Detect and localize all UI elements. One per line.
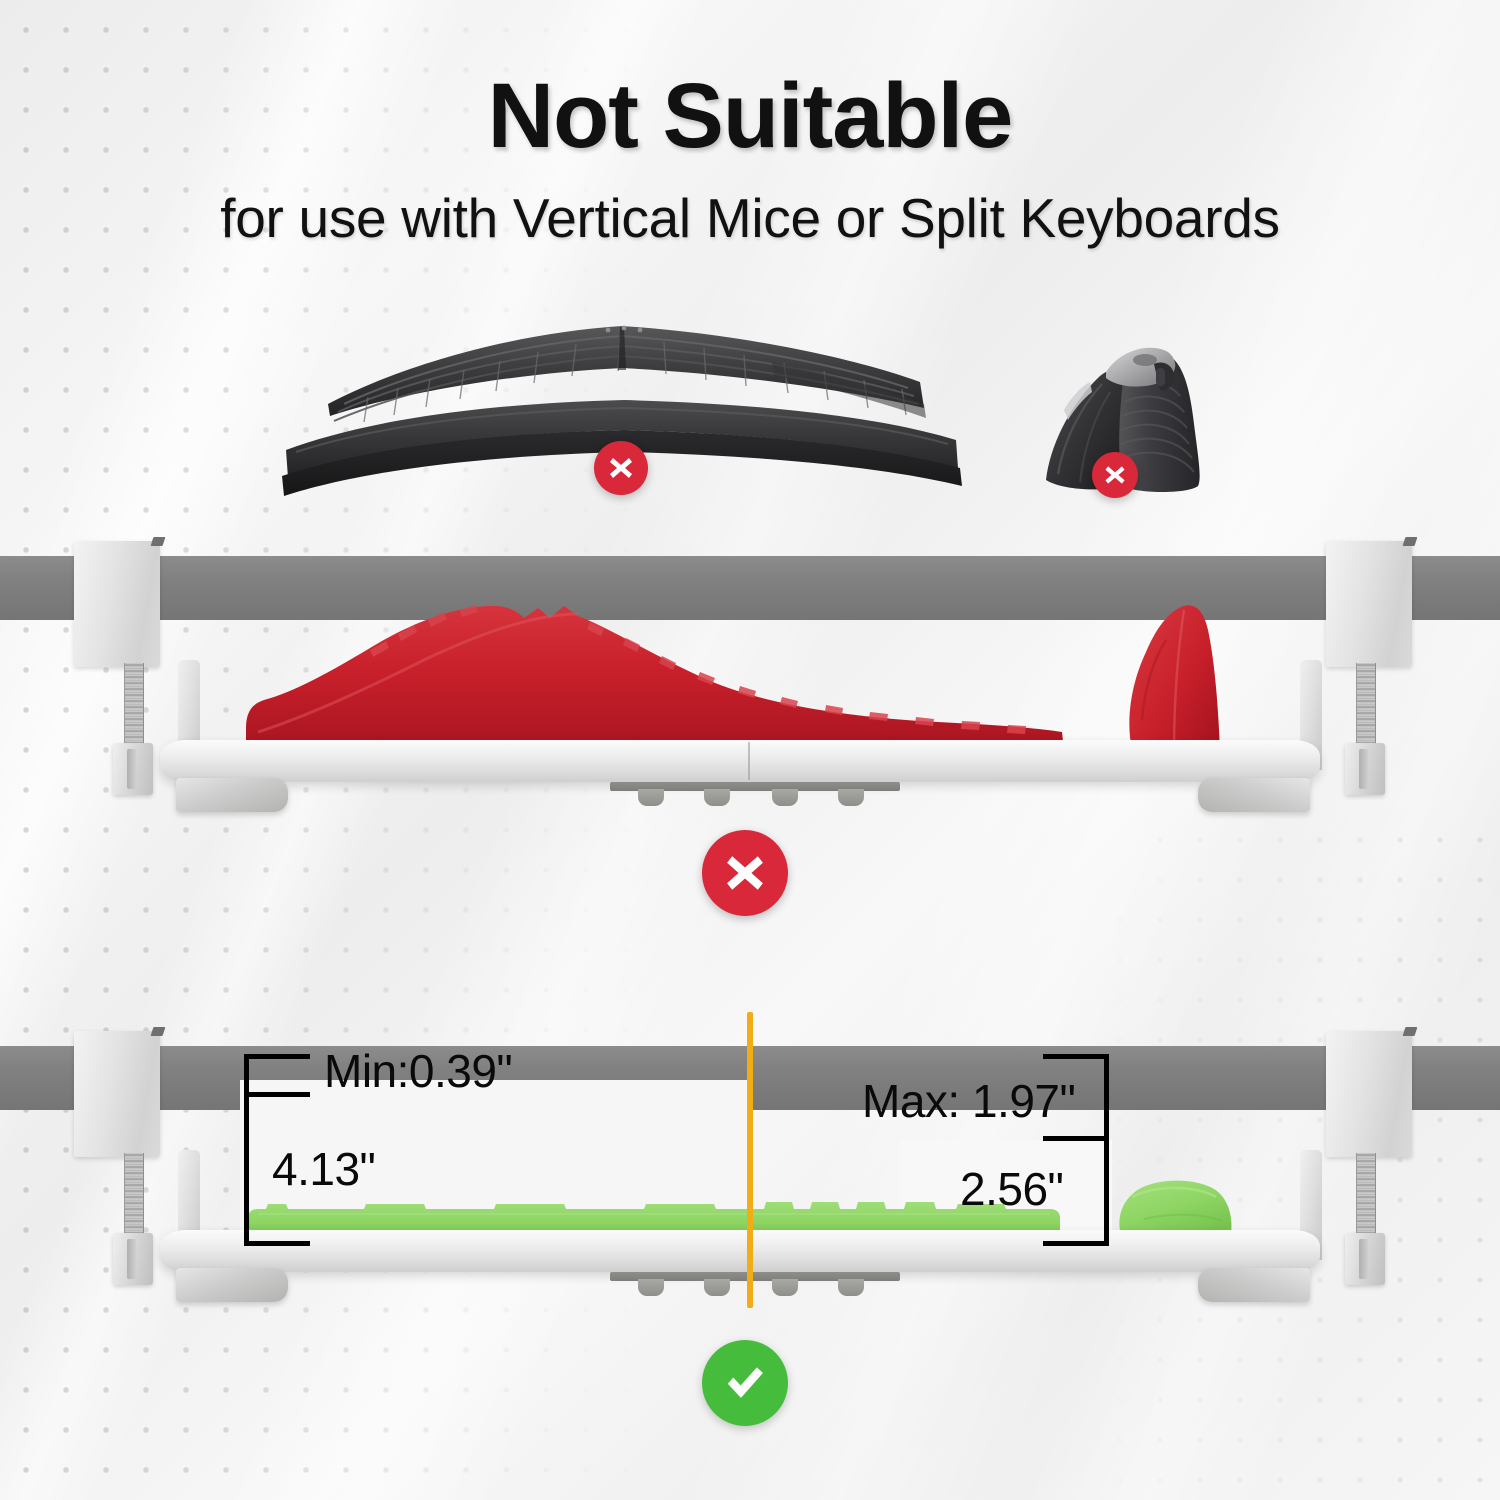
center-divider-line <box>747 1012 753 1308</box>
tray-peg <box>638 789 664 806</box>
x-mark-icon <box>606 453 636 483</box>
clamp-block-right <box>1326 541 1412 667</box>
clamp-block-left <box>74 541 160 667</box>
dim-label-max-clearance: Max: 1.97" <box>862 1074 1075 1128</box>
dim-bracket-left-bottom-cap <box>244 1241 310 1246</box>
tray-mount-foot-left-2 <box>176 1268 288 1302</box>
tray-peg <box>704 1279 730 1296</box>
clamp-screw-left-2 <box>124 1153 144 1239</box>
dim-label-right-height: 2.56" <box>960 1162 1063 1216</box>
middle-panel-x-badge <box>702 830 788 916</box>
tray-peg <box>638 1279 664 1296</box>
clamp-foot-left <box>113 743 153 795</box>
dim-bracket-right-top-cap <box>1043 1054 1109 1059</box>
tray-mount-foot-left <box>176 778 288 812</box>
dim-bracket-min-cap <box>244 1092 310 1097</box>
keyboard-x-badge <box>594 441 648 495</box>
bottom-panel-check-badge <box>702 1340 788 1426</box>
mouse-x-badge <box>1092 452 1138 498</box>
x-mark-icon <box>721 849 769 897</box>
red-vertical-mouse-silhouette <box>1108 600 1248 755</box>
dim-bracket-right-bottom-cap <box>1043 1241 1109 1246</box>
clamp-screw-left <box>124 663 144 749</box>
product-infographic: Not Suitable for use with Vertical Mice … <box>0 0 1500 1500</box>
clamp-foot-right <box>1345 743 1385 795</box>
page-title: Not Suitable <box>0 64 1500 169</box>
dim-label-min-clearance: Min:0.39" <box>324 1044 512 1098</box>
page-subtitle: for use with Vertical Mice or Split Keyb… <box>0 186 1500 250</box>
clamp-foot-right-2 <box>1345 1233 1385 1285</box>
tray-peg <box>838 1279 864 1296</box>
tray-peg <box>704 789 730 806</box>
dim-bracket-max-cap <box>1043 1136 1109 1141</box>
dim-label-left-height: 4.13" <box>272 1142 375 1196</box>
tray-mount-foot-right-2 <box>1198 1268 1310 1302</box>
tray-peg <box>772 789 798 806</box>
tray-peg <box>772 1279 798 1296</box>
check-mark-icon <box>720 1358 770 1408</box>
red-keyboard-silhouette <box>238 600 1068 755</box>
tray-peg <box>838 789 864 806</box>
clamp-foot-left-2 <box>113 1233 153 1285</box>
dim-bracket-left-top-cap <box>244 1054 310 1059</box>
clamp-block-right-2 <box>1326 1031 1412 1157</box>
clamp-screw-right <box>1356 663 1376 749</box>
dim-bracket-right-vertical <box>1104 1054 1109 1246</box>
keyboard-tray-top-2 <box>160 1230 1320 1272</box>
tray-seam <box>748 742 750 780</box>
keyboard-tray-top <box>160 740 1320 782</box>
dim-bracket-left-vertical <box>244 1054 249 1246</box>
x-mark-icon <box>1102 462 1128 488</box>
tray-mount-foot-right <box>1198 778 1310 812</box>
clamp-block-left-2 <box>74 1031 160 1157</box>
clamp-screw-right-2 <box>1356 1153 1376 1239</box>
